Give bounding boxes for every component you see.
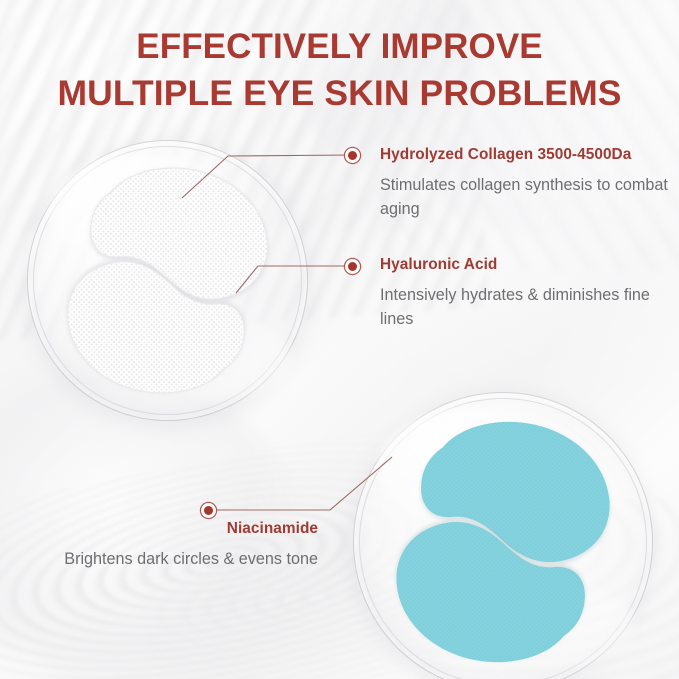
ingredient-description: Brightens dark circles & evens tone [28, 548, 318, 572]
eye-patch-blue-svg [353, 392, 653, 679]
petri-dish-blue [353, 392, 653, 679]
callout-niacinamide: Niacinamide Brightens dark circles & eve… [28, 520, 318, 572]
marker-dot-niacinamide[interactable] [201, 503, 216, 518]
page-title: EFFECTIVELY IMPROVE MULTIPLE EYE SKIN PR… [0, 24, 679, 116]
marker-dot-hyaluronic[interactable] [345, 259, 360, 274]
ingredient-description: Intensively hydrates & diminishes fine l… [380, 284, 670, 332]
eye-patch-pair-blue [353, 392, 653, 679]
title-line-1: EFFECTIVELY IMPROVE [136, 27, 542, 66]
title-line-2: MULTIPLE EYE SKIN PROBLEMS [0, 70, 679, 116]
ingredient-name: Hydrolyzed Collagen 3500-4500Da [380, 146, 670, 164]
callout-hyaluronic: Hyaluronic Acid Intensively hydrates & d… [380, 256, 670, 332]
callout-collagen: Hydrolyzed Collagen 3500-4500Da Stimulat… [380, 146, 670, 222]
ingredient-name: Niacinamide [28, 520, 318, 538]
ingredient-description: Stimulates collagen synthesis to combat … [380, 174, 670, 222]
infographic-canvas: EFFECTIVELY IMPROVE MULTIPLE EYE SKIN PR… [0, 0, 679, 679]
ingredient-name: Hyaluronic Acid [380, 256, 670, 274]
marker-dot-collagen[interactable] [345, 148, 360, 163]
eye-patch-pair-white [27, 140, 308, 421]
petri-dish-white [27, 140, 308, 421]
eye-patch-white-svg [27, 140, 308, 421]
